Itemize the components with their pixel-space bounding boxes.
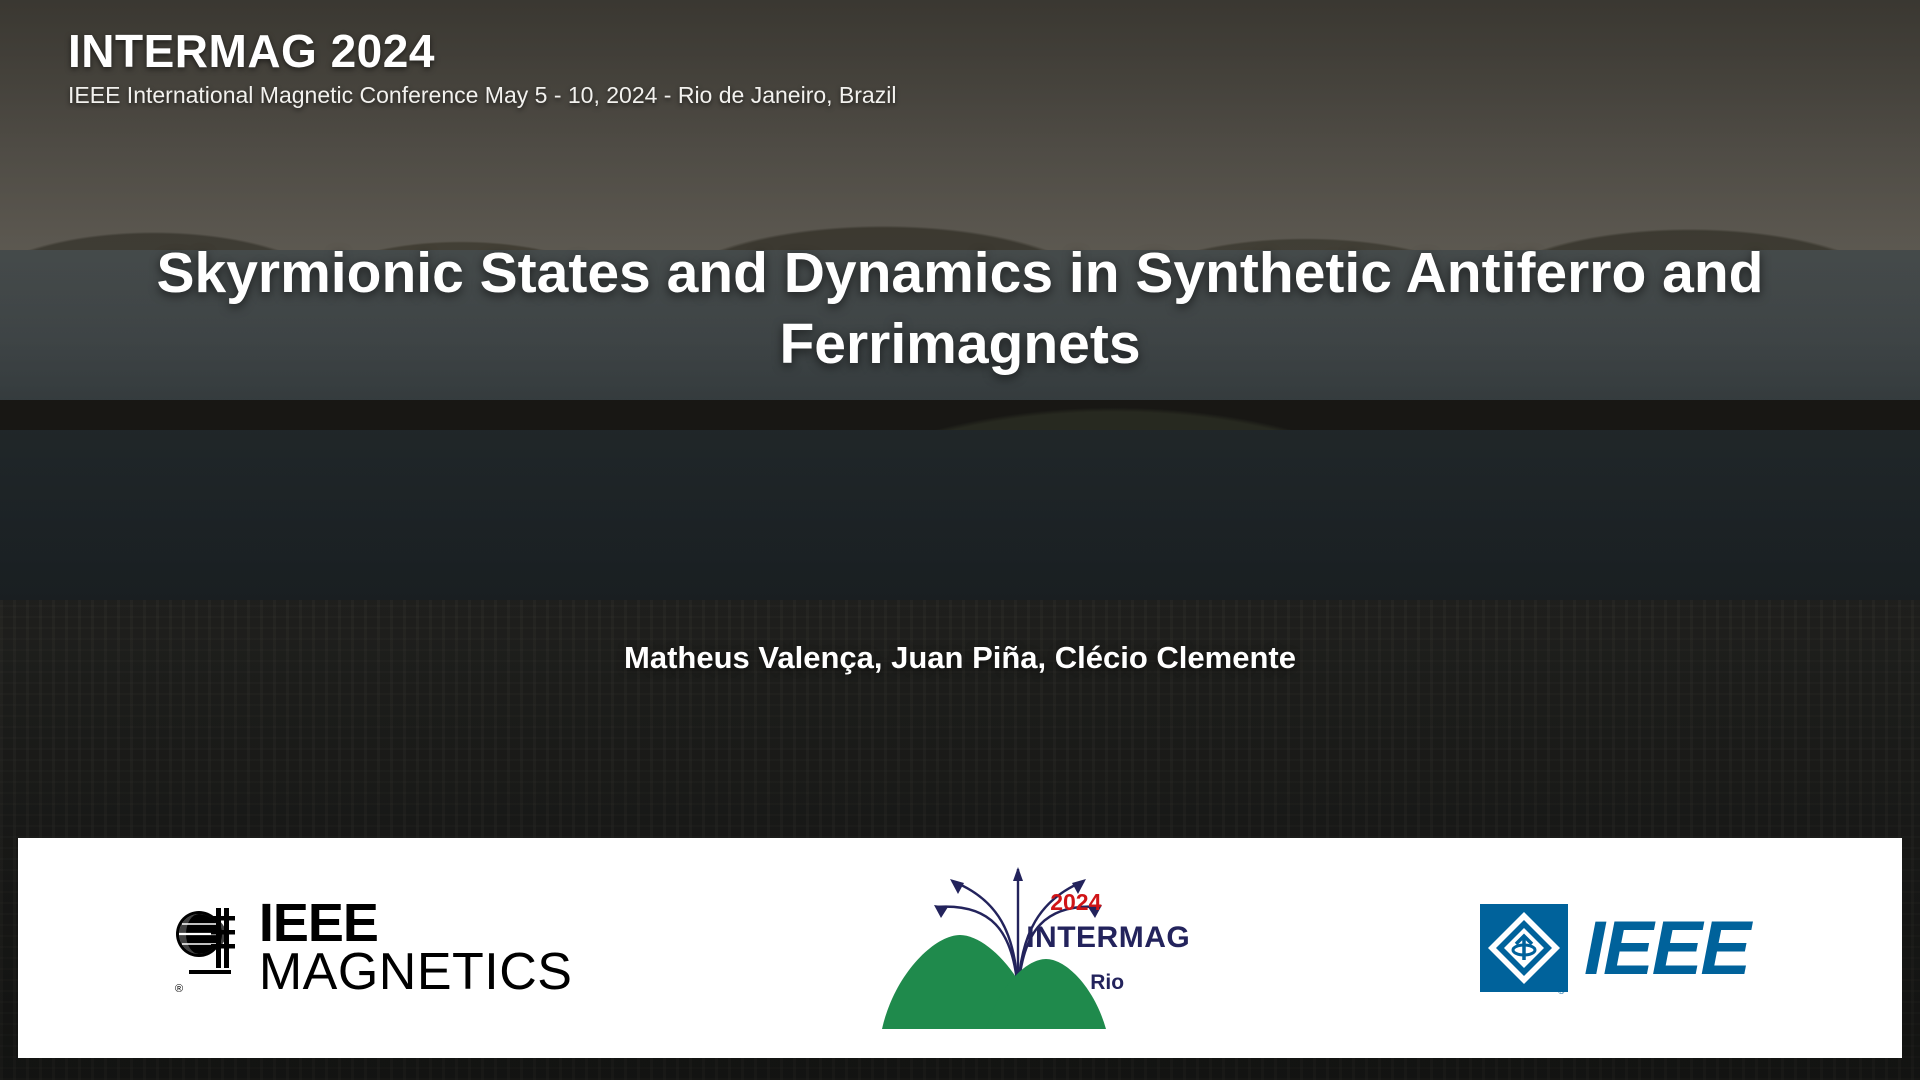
ieee-globe-icon: ® bbox=[171, 900, 245, 996]
author-list: Matheus Valença, Juan Piña, Clécio Cleme… bbox=[0, 640, 1920, 676]
ieee-diamond-icon: ® bbox=[1474, 898, 1574, 998]
intermag-year: 2024 bbox=[1050, 889, 1101, 916]
ieee-magnetics-society-text: MAGNETICS bbox=[259, 949, 573, 997]
intermag-wordmark: INTERMAG bbox=[1026, 921, 1190, 955]
slide-header: INTERMAG 2024 IEEE International Magneti… bbox=[68, 28, 896, 109]
ieee-wordmark: IEEE bbox=[1584, 905, 1749, 992]
svg-text:®: ® bbox=[1558, 986, 1565, 996]
presentation-title: Skyrmionic States and Dynamics in Synthe… bbox=[150, 238, 1770, 379]
ieee-magnetics-logo: ® IEEE MAGNETICS bbox=[171, 899, 573, 997]
svg-text:®: ® bbox=[175, 983, 183, 995]
ieee-magnetics-ieee-text: IEEE bbox=[259, 899, 573, 949]
intermag-rio-logo: 2024 INTERMAG Rio bbox=[878, 863, 1168, 1033]
ieee-logo: ® IEEE bbox=[1474, 898, 1749, 998]
intermag-city: Rio bbox=[1090, 971, 1124, 995]
conference-subtitle: IEEE International Magnetic Conference M… bbox=[68, 82, 896, 109]
presentation-slide: INTERMAG 2024 IEEE International Magneti… bbox=[0, 0, 1920, 1080]
conference-name: INTERMAG 2024 bbox=[68, 28, 896, 76]
slide-title-block: Skyrmionic States and Dynamics in Synthe… bbox=[0, 238, 1920, 379]
logo-bar: ® IEEE MAGNETICS bbox=[18, 838, 1902, 1058]
